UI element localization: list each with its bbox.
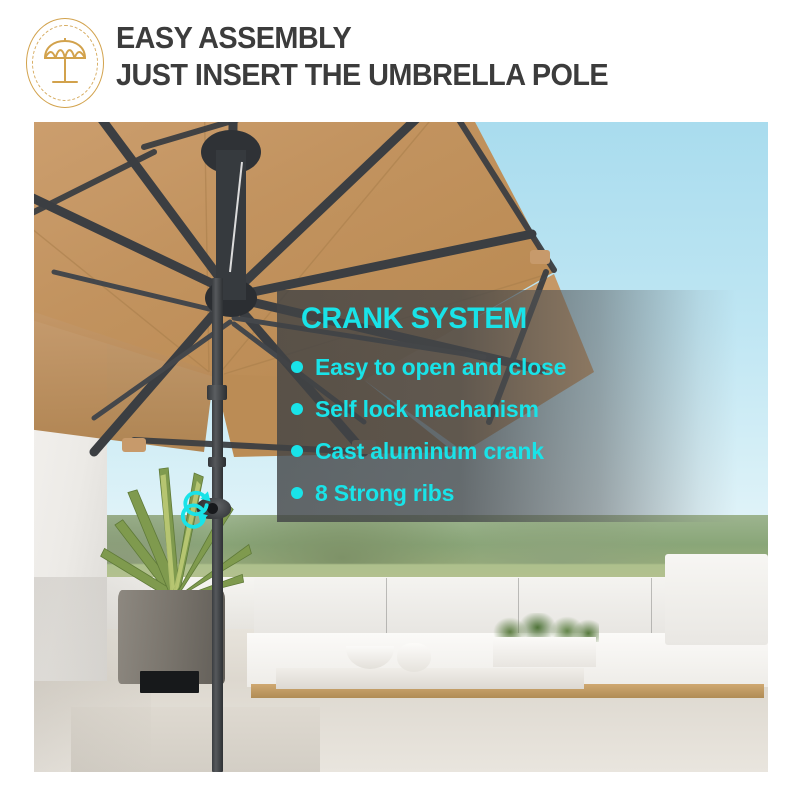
product-feature-image: EASY ASSEMBLY JUST INSERT THE UMBRELLA P… — [0, 0, 800, 800]
list-item: Self lock machanism — [291, 388, 731, 430]
feature-bullet-list: Easy to open and close Self lock machani… — [291, 346, 731, 514]
bullet-dot-icon — [291, 361, 303, 373]
list-item: Cast aluminum crank — [291, 430, 731, 472]
bullet-dot-icon — [291, 403, 303, 415]
crank-system-panel: CRANK SYSTEM Easy to open and close Self… — [277, 290, 737, 522]
bullet-dot-icon — [291, 445, 303, 457]
headline-line-1: EASY ASSEMBLY — [116, 22, 739, 55]
beach-umbrella-icon — [42, 38, 88, 88]
bullet-label: Self lock machanism — [315, 396, 539, 423]
rotate-arrows-icon — [178, 485, 218, 529]
pole-joint-upper — [207, 385, 227, 399]
panel-title: CRANK SYSTEM — [301, 302, 527, 336]
header-band: EASY ASSEMBLY JUST INSERT THE UMBRELLA P… — [0, 0, 800, 122]
list-item: Easy to open and close — [291, 346, 731, 388]
pole-joint-lower — [208, 457, 226, 467]
bullet-label: Cast aluminum crank — [315, 438, 544, 465]
bullet-label: 8 Strong ribs — [315, 480, 454, 507]
bullet-label: Easy to open and close — [315, 354, 566, 381]
bullet-dot-icon — [291, 487, 303, 499]
list-item: 8 Strong ribs — [291, 472, 731, 514]
umbrella-badge — [26, 18, 106, 110]
headline: EASY ASSEMBLY JUST INSERT THE UMBRELLA P… — [116, 22, 786, 92]
headline-line-2: JUST INSERT THE UMBRELLA POLE — [116, 59, 739, 92]
